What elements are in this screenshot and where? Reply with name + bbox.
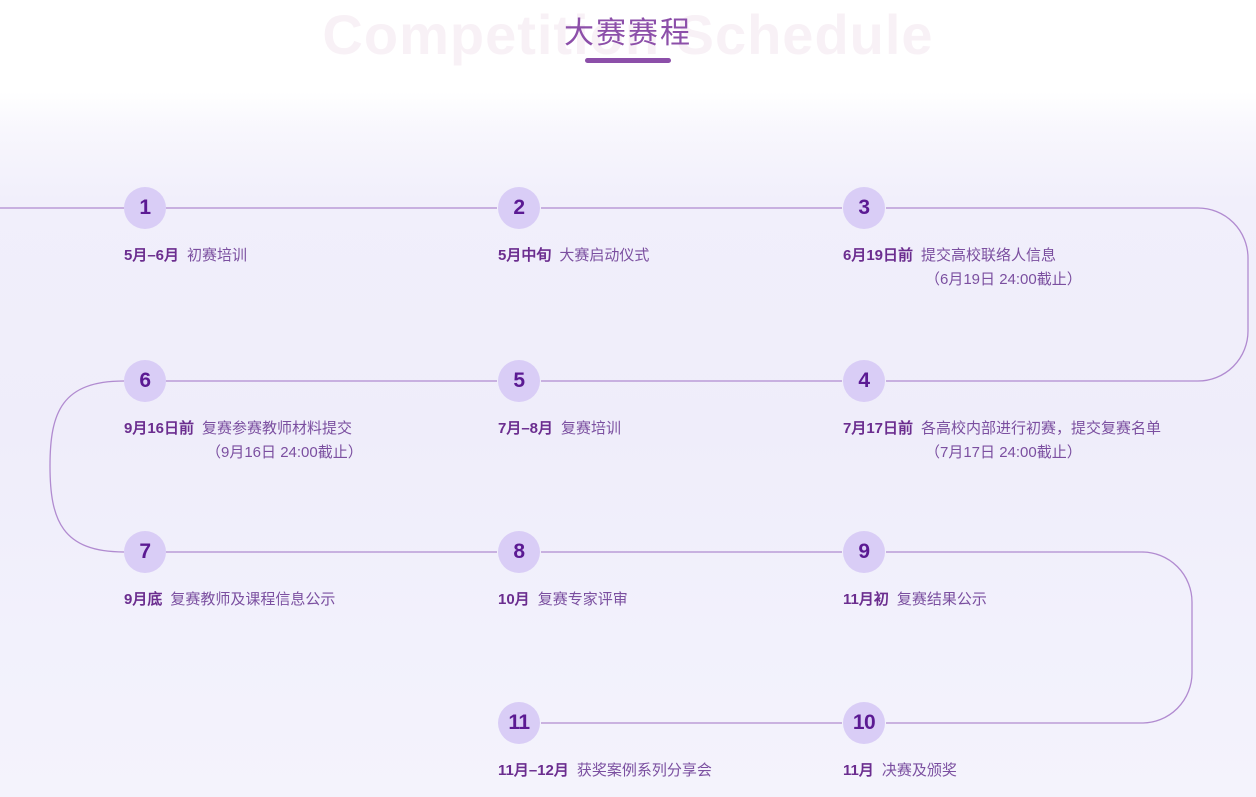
step-desc: 复赛教师及课程信息公示 [170, 591, 335, 608]
step-desc: 复赛结果公示 [897, 591, 987, 608]
step-label: 9月底复赛教师及课程信息公示 [124, 588, 335, 612]
step-desc: 复赛培训 [561, 420, 621, 437]
step-desc: 提交高校联络人信息 [921, 247, 1056, 264]
schedule-page: Competition Schedule 大赛赛程 1 [0, 0, 1256, 797]
step-deadline: （9月16日 24:00截止） [124, 441, 363, 465]
step-label: 11月决赛及颁奖 [843, 759, 957, 783]
step-desc: 初赛培训 [187, 247, 247, 264]
step-badge: 6 [124, 360, 166, 402]
step-date: 9月底 [124, 591, 162, 608]
step-label: 11月初复赛结果公示 [843, 588, 987, 612]
step-desc: 复赛参赛教师材料提交 [202, 420, 352, 437]
step-label: 10月复赛专家评审 [498, 588, 628, 612]
step-desc: 大赛启动仪式 [559, 247, 649, 264]
page-header: Competition Schedule 大赛赛程 [0, 0, 1256, 92]
page-title-label: 大赛赛程 [564, 16, 692, 52]
step-label: 7月17日前各高校内部进行初赛，提交复赛名单 （7月17日 24:00截止） [843, 417, 1161, 465]
step-desc: 决赛及颁奖 [882, 762, 957, 779]
title-underline [585, 58, 671, 63]
step-date: 10月 [498, 591, 530, 608]
step-desc: 各高校内部进行初赛，提交复赛名单 [921, 420, 1161, 437]
connector-row2-to-row3 [50, 381, 124, 552]
step-badge: 10 [843, 702, 885, 744]
step-date: 11月–12月 [498, 762, 569, 779]
step-badge: 4 [843, 360, 885, 402]
step-date: 9月16日前 [124, 420, 194, 437]
step-label: 11月–12月获奖案例系列分享会 [498, 759, 712, 783]
connector-row3-to-row4 [886, 552, 1192, 723]
step-desc: 复赛专家评审 [538, 591, 628, 608]
step-badge: 3 [843, 187, 885, 229]
timeline-connectors [0, 0, 1256, 797]
step-date: 7月17日前 [843, 420, 913, 437]
step-date: 11月初 [843, 591, 889, 608]
step-badge: 2 [498, 187, 540, 229]
step-label: 5月–6月初赛培训 [124, 244, 247, 268]
page-title: 大赛赛程 [0, 16, 1256, 63]
connector-row1-to-row2 [886, 208, 1248, 381]
step-badge: 7 [124, 531, 166, 573]
step-date: 11月 [843, 762, 874, 779]
step-date: 5月–6月 [124, 247, 179, 264]
step-date: 7月–8月 [498, 420, 553, 437]
step-date: 6月19日前 [843, 247, 913, 264]
step-label: 5月中旬大赛启动仪式 [498, 244, 649, 268]
step-badge: 11 [498, 702, 540, 744]
step-badge: 1 [124, 187, 166, 229]
step-badge: 9 [843, 531, 885, 573]
step-label: 7月–8月复赛培训 [498, 417, 621, 441]
step-deadline: （7月17日 24:00截止） [843, 441, 1161, 465]
step-badge: 5 [498, 360, 540, 402]
step-deadline: （6月19日 24:00截止） [843, 268, 1082, 292]
step-date: 5月中旬 [498, 247, 551, 264]
step-badge: 8 [498, 531, 540, 573]
step-label: 6月19日前提交高校联络人信息 （6月19日 24:00截止） [843, 244, 1082, 292]
step-desc: 获奖案例系列分享会 [577, 762, 712, 779]
step-label: 9月16日前复赛参赛教师材料提交 （9月16日 24:00截止） [124, 417, 363, 465]
